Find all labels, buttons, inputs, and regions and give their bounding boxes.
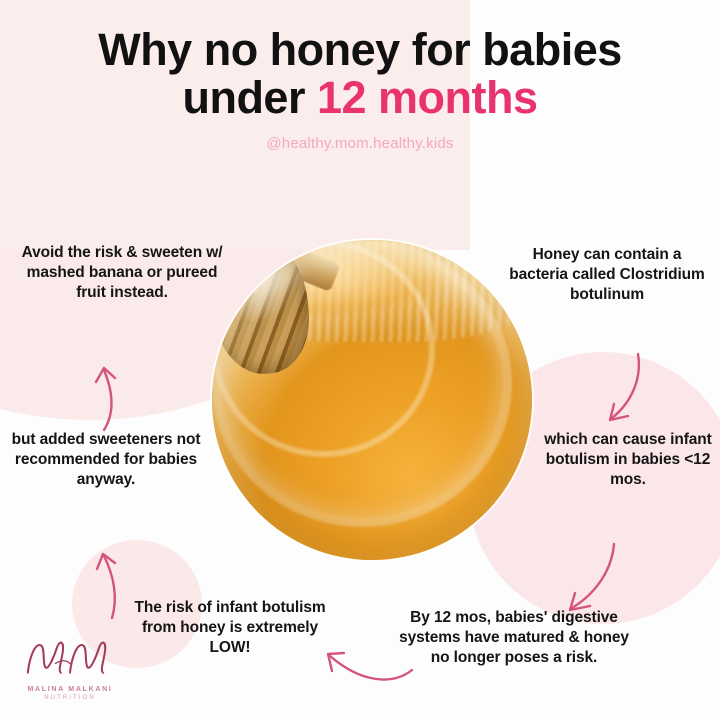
infographic-canvas: Why no honey for babies under 12 months … — [0, 0, 720, 720]
logo-brand-subtitle: Nutrition — [14, 695, 126, 701]
header: Why no honey for babies under 12 months … — [0, 28, 720, 152]
page-title-prefix: under — [182, 72, 317, 123]
account-handle: @healthy.mom.healthy.kids — [0, 135, 720, 152]
callout-low-risk: The risk of infant botulism from honey i… — [128, 598, 332, 658]
curved-arrow-up-icon — [70, 348, 150, 432]
logo-brand-name: Malina Malkani — [14, 686, 126, 693]
brand-logo: Malina Malkani Nutrition — [14, 636, 126, 712]
callout-matured-digestion: By 12 mos, babies' digestive systems hav… — [396, 608, 632, 668]
page-title-line-2: under 12 months — [0, 76, 720, 120]
page-title-accent: 12 months — [317, 72, 538, 123]
honey-photo — [212, 240, 532, 560]
honey-photo-vignette — [212, 240, 532, 560]
curved-arrow-down-icon — [580, 352, 662, 438]
page-title-line-1: Why no honey for babies — [0, 28, 720, 72]
callout-infant-botulism: which can cause infant botulism in babie… — [538, 430, 718, 490]
callout-added-sweeteners: but added sweeteners not recommended for… — [6, 430, 206, 490]
mm-monogram-icon — [15, 636, 125, 680]
callout-avoid-risk: Avoid the risk & sweeten w/ mashed banan… — [18, 243, 226, 303]
callout-bacteria: Honey can contain a bacteria called Clos… — [504, 245, 710, 305]
